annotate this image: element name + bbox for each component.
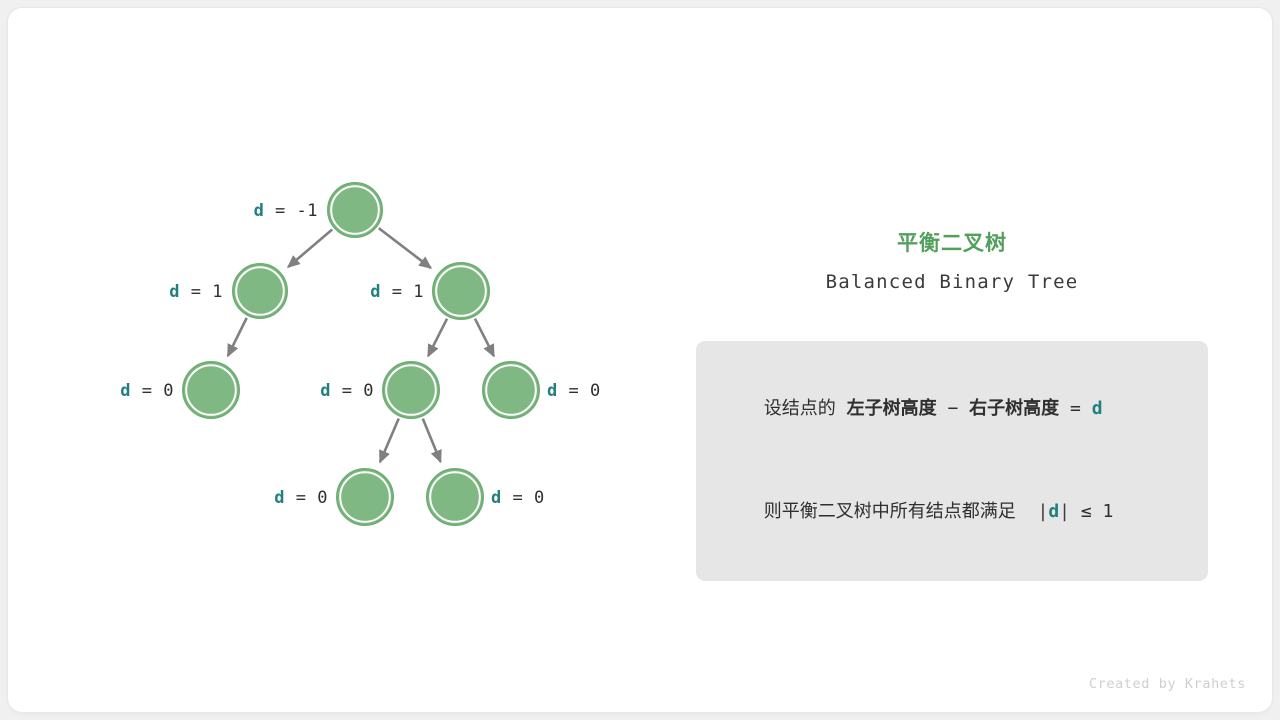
abs-bar-close: | (1059, 501, 1070, 522)
tree-node[interactable] (233, 264, 287, 318)
condition-variable-d: d (1048, 501, 1059, 522)
node-balance-label: d = 1 (370, 282, 424, 302)
balance-variable: d (320, 381, 331, 401)
tree-edge (475, 319, 494, 356)
tree-edge (428, 319, 447, 356)
tree-edge (380, 418, 399, 462)
balance-value: = 0 (131, 381, 174, 401)
balance-variable: d (169, 282, 180, 302)
balance-value: = 0 (558, 381, 601, 401)
tree-edge (423, 419, 441, 462)
balance-value: = 0 (502, 488, 545, 508)
tree-nodes (183, 183, 539, 525)
tree-node[interactable] (483, 362, 539, 418)
definition-prefix: 设结点的 (764, 398, 836, 419)
node-balance-label: d = -1 (254, 201, 318, 221)
definition-variable-d: d (1092, 398, 1103, 419)
definition-equals: = (1070, 398, 1081, 419)
info-panel: 平衡二叉树 Balanced Binary Tree 设结点的 左子树高度 − … (696, 230, 1208, 581)
balance-value: = -1 (264, 201, 318, 221)
balance-value: = 1 (381, 282, 424, 302)
balance-variable: d (370, 282, 381, 302)
tree-node[interactable] (328, 183, 382, 237)
balance-value: = 0 (285, 488, 328, 508)
definition-minus: − (947, 398, 958, 419)
node-balance-label: d = 0 (491, 488, 545, 508)
node-body (432, 474, 479, 521)
condition-bound: 1 (1103, 501, 1114, 522)
balance-value: = 1 (180, 282, 223, 302)
tree-node-labels: d = -1d = 1d = 1d = 0d = 0d = 0d = 0d = … (120, 201, 600, 508)
node-balance-label: d = 0 (274, 488, 328, 508)
node-balance-label: d = 0 (320, 381, 374, 401)
balance-variable: d (254, 201, 265, 221)
balance-variable: d (547, 381, 558, 401)
credit-text: Created by Krahets (1089, 676, 1246, 692)
node-body (388, 367, 435, 414)
tree-node[interactable] (427, 469, 483, 525)
node-body (488, 367, 535, 414)
tree-node[interactable] (383, 362, 439, 418)
balance-variable: d (491, 488, 502, 508)
tree-node[interactable] (433, 263, 489, 319)
balance-variable: d (120, 381, 131, 401)
node-body (342, 474, 389, 521)
node-balance-label: d = 0 (547, 381, 601, 401)
definition-line-1: 设结点的 左子树高度 − 右子树高度 = d (718, 358, 1186, 461)
diagram-card: d = -1d = 1d = 1d = 0d = 0d = 0d = 0d = … (8, 8, 1272, 712)
condition-prefix: 则平衡二叉树中所有结点都满足 (764, 501, 1016, 522)
node-body (333, 188, 378, 233)
definition-line-2: 则平衡二叉树中所有结点都满足 |d| ≤ 1 (718, 461, 1186, 564)
node-balance-label: d = 0 (120, 381, 174, 401)
tree-edge (379, 228, 431, 268)
balance-value: = 0 (331, 381, 374, 401)
page-subtitle: Balanced Binary Tree (696, 271, 1208, 293)
node-balance-label: d = 1 (169, 282, 223, 302)
node-body (438, 268, 485, 315)
node-body (188, 367, 235, 414)
tree-node[interactable] (337, 469, 393, 525)
definition-term-right: 右子树高度 (969, 398, 1059, 419)
node-body (238, 269, 283, 314)
tree-edge (288, 229, 332, 267)
page-title: 平衡二叉树 (696, 230, 1208, 257)
tree-edge (228, 318, 247, 356)
definition-term-left: 左子树高度 (847, 398, 937, 419)
balance-variable: d (274, 488, 285, 508)
tree-node[interactable] (183, 362, 239, 418)
definition-box: 设结点的 左子树高度 − 右子树高度 = d 则平衡二叉树中所有结点都满足 |d… (696, 341, 1208, 581)
condition-relation: ≤ (1081, 501, 1092, 522)
abs-bar-open: | (1037, 501, 1048, 522)
